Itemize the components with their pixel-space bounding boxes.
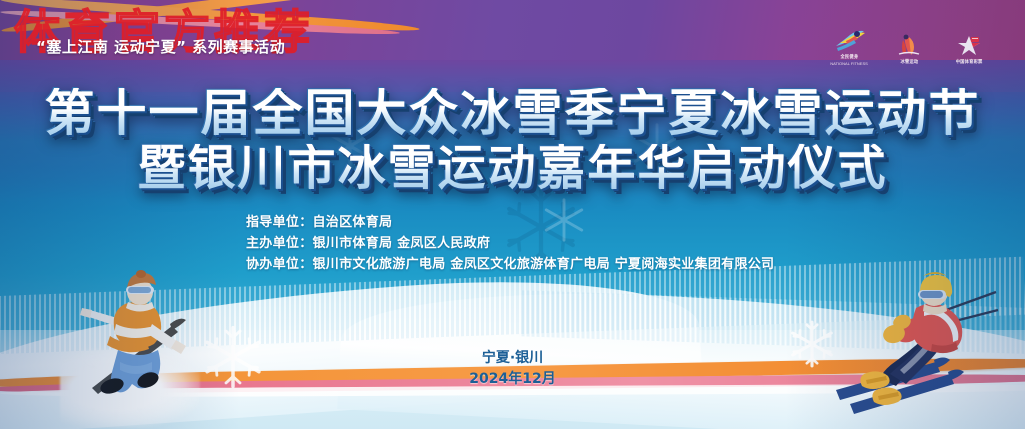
running-figure-icon	[832, 28, 866, 52]
china-sports-lottery-logo: 中国体育彩票	[947, 33, 991, 66]
event-place: 宁夏·银川	[0, 348, 1025, 369]
organizer-coorganizer: 协办单位：银川市文化旅游广电局 金凤区文化旅游体育广电局 宁夏阅海实业集团有限公…	[246, 254, 774, 275]
logo-caption-en: NATIONAL FITNESS	[830, 61, 868, 66]
event-poster: 体育官方推荐 “塞上江南 运动宁夏” 系列赛事活动 全民健身 NATIONAL …	[0, 0, 1025, 429]
event-date: 2024年12月	[0, 369, 1025, 390]
title-line-1: 第十一届全国大众冰雪季宁夏冰雪运动节	[0, 88, 1025, 138]
alpine-skier-right	[828, 270, 1003, 418]
organizer-host: 主办单位：银川市体育局 金凤区人民政府	[246, 233, 774, 254]
logo-caption: 冰雪运动	[900, 59, 918, 65]
national-fitness-logo: 全民健身 NATIONAL FITNESS	[827, 28, 871, 66]
logo-caption: 中国体育彩票	[956, 59, 983, 65]
winter-sports-logo: 冰雪运动	[887, 33, 931, 66]
organizer-guidance: 指导单位：自治区体育局	[246, 212, 774, 233]
place-date-block: 宁夏·银川 2024年12月	[0, 348, 1025, 390]
logo-caption: 全民健身	[840, 54, 858, 60]
title-line-2: 暨银川市冰雪运动嘉年华启动仪式	[0, 144, 1025, 192]
organizer-block: 指导单位：自治区体育局 主办单位：银川市体育局 金凤区人民政府 协办单位：银川市…	[246, 212, 774, 275]
lottery-emblem-icon	[954, 33, 984, 57]
poster-title: 第十一届全国大众冰雪季宁夏冰雪运动节 暨银川市冰雪运动嘉年华启动仪式	[0, 88, 1025, 192]
series-subtitle: “塞上江南 运动宁夏” 系列赛事活动	[36, 36, 285, 57]
skier-figure-icon	[895, 33, 923, 57]
sponsor-logo-group: 全民健身 NATIONAL FITNESS 冰雪运动	[827, 28, 991, 66]
